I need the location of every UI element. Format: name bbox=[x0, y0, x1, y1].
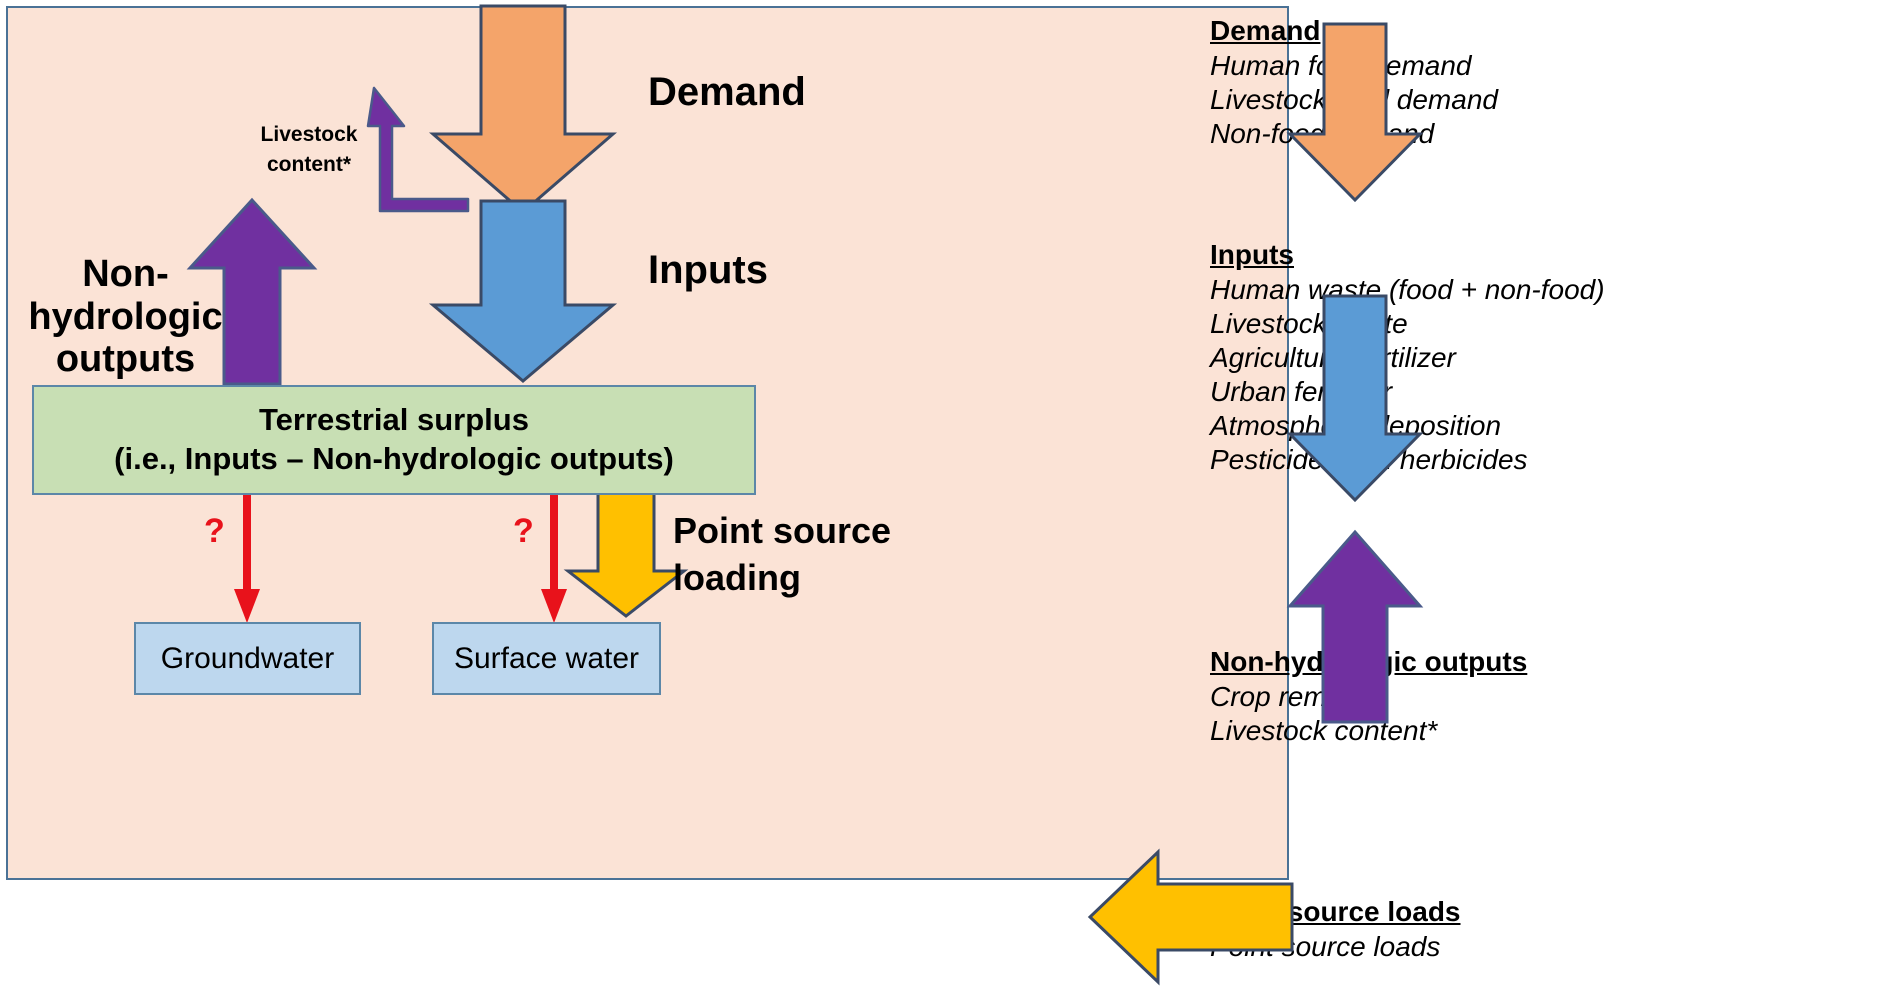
legend-demand-arrow bbox=[1290, 24, 1420, 202]
figure-root: Demand Inputs Non- hydrologic outputs Li… bbox=[0, 0, 1889, 1008]
legend-point-source-loads-arrow bbox=[1090, 852, 1292, 982]
terrestrial-surplus-box: Terrestrial surplus (i.e., Inputs – Non-… bbox=[32, 385, 756, 495]
surplus-to-surface-water-arrow bbox=[541, 493, 567, 625]
non-hydrologic-outputs-label: Non- hydrologic outputs bbox=[18, 253, 233, 381]
inputs-label: Inputs bbox=[648, 248, 768, 293]
demand-label: Demand bbox=[648, 70, 806, 115]
surface-water-box: Surface water bbox=[432, 622, 661, 695]
diagram-panel: Demand Inputs Non- hydrologic outputs Li… bbox=[6, 6, 1289, 880]
legend-inputs-arrow bbox=[1290, 296, 1420, 502]
livestock-content-label: Livestock content* bbox=[254, 120, 364, 181]
terrestrial-surplus-line-2: (i.e., Inputs – Non-hydrologic outputs) bbox=[114, 440, 674, 479]
legend-block-point-source-loads: Point source loads Point source loads bbox=[1210, 895, 1889, 964]
surplus-to-groundwater-arrow bbox=[234, 493, 260, 625]
point-source-loading-arrow bbox=[568, 493, 684, 618]
groundwater-box: Groundwater bbox=[134, 622, 361, 695]
question-mark-groundwater: ? bbox=[204, 514, 225, 548]
legend-title-inputs: Inputs bbox=[1210, 238, 1294, 272]
legend-item: Point source loads bbox=[1210, 930, 1889, 964]
question-mark-surface-water: ? bbox=[513, 514, 534, 548]
terrestrial-surplus-line-1: Terrestrial surplus bbox=[259, 401, 529, 440]
legend-non-hydrologic-outputs-arrow bbox=[1290, 532, 1420, 722]
point-source-loading-label: Point source loading bbox=[673, 508, 933, 602]
inputs-arrow bbox=[433, 201, 613, 383]
